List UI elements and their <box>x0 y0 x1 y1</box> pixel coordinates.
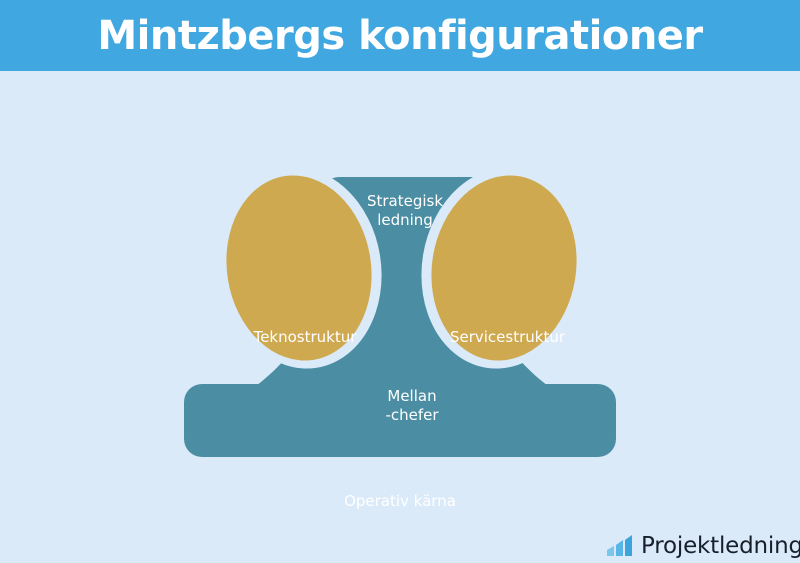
diagram-svg <box>0 71 800 500</box>
brand-logo[interactable]: Projektledning <box>606 529 800 563</box>
mintzberg-diagram: Strategisk ledning Teknostruktur Service… <box>0 71 800 500</box>
operating-core-bar <box>184 384 616 457</box>
header-banner: Mintzbergs konfigurationer <box>0 0 800 71</box>
brand-logo-text: Projektledning <box>641 535 800 558</box>
page-title: Mintzbergs konfigurationer <box>97 16 702 56</box>
bar-chart-logo-icon <box>606 535 636 557</box>
page-root: Mintzbergs konfigurationer <box>0 0 800 500</box>
